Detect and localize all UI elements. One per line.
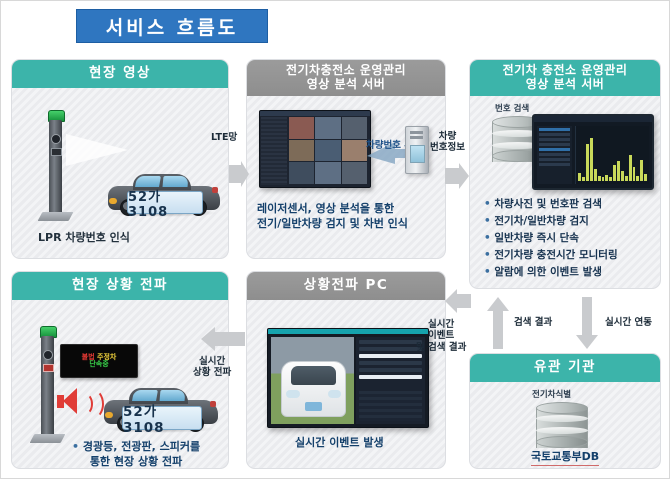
panel-site-video-body: 52가 3108 LPR 차량번호 인식 <box>12 88 228 259</box>
analytics-chart-screen <box>532 114 654 190</box>
panel-site-broadcast-caption: • 경광등, 전광판, 스피커를 통한 현장 상황 전파 <box>72 440 200 469</box>
ops-bullet-4: 전기차량 충전시간 모니터링 <box>484 247 618 264</box>
panel-site-broadcast-body: 불법 주정차 단속중 52가 3108 <box>12 300 228 469</box>
arrow-label-realtime-event: 실시간 이벤트 및 검색 결과 <box>416 319 466 353</box>
panel-situation-pc-caption: 실시간 이벤트 발생 <box>295 436 384 451</box>
panel-analysis-server: 전기차충전소 운영관리 영상 분석 서버 차량번호 추출 <box>246 59 446 259</box>
arrow-label-realtime-link: 실시간 연동 <box>605 317 652 328</box>
ops-server-bullet-list: 차량사진 및 번호판 검색 전기차/일반차량 검지 일반차량 즉시 단속 전기차… <box>484 196 618 281</box>
panel-situation-pc: 상황전파 PC 실시간 이벤트 발생 <box>246 271 446 469</box>
analysis-header-line2: 영상 분석 서버 <box>286 78 406 92</box>
panel-related-org-header: 유관 기관 <box>470 354 660 382</box>
analysis-caption-line2: 전기/일반차량 검지 및 차번 인식 <box>257 217 408 232</box>
panel-related-org-header-text: 유관 기관 <box>534 360 596 376</box>
number-search-db-label: 번호 검색 <box>495 104 529 114</box>
panel-site-video-caption: LPR 차량번호 인식 <box>38 231 130 246</box>
ops-bullet-1: 차량사진 및 번호판 검색 <box>484 196 618 213</box>
panel-related-org-body: 전기차식별 국토교통부DB <box>470 382 660 469</box>
analysis-caption-line1: 레이저센서, 영상 분석을 통한 <box>257 202 408 217</box>
speaker-icon <box>57 388 99 416</box>
broadcast-caption-line1: • 경광등, 전광판, 스피커를 <box>72 440 200 455</box>
broadcast-caption-line2: 통한 현장 상황 전파 <box>72 455 200 469</box>
arrow-label-search-result: 검색 결과 <box>514 317 552 328</box>
camera-beam-icon <box>66 134 128 166</box>
arrow-situation-pc-to-site <box>201 327 245 351</box>
panel-analysis-server-header: 전기차충전소 운영관리 영상 분석 서버 <box>247 60 445 96</box>
panel-site-video: 현장 영상 52가 3108 LPR 차량번호 인식 <box>11 59 229 259</box>
ops-bullet-3: 일반차량 즉시 단속 <box>484 230 618 247</box>
panel-situation-pc-header-text: 상황전파 PC <box>304 278 389 294</box>
lpr-camera-pole-icon <box>40 110 72 222</box>
led-display-sign: 불법 주정차 단속중 <box>60 344 138 378</box>
arrow-realtime-link-down <box>576 297 598 349</box>
panel-site-broadcast-header-text: 현장 상황 전파 <box>72 278 168 294</box>
arrow-analysis-to-ops <box>445 163 469 189</box>
ev-vehicle-photo <box>271 337 354 424</box>
analysis-header-line1: 전기차충전소 운영관리 <box>286 64 406 78</box>
service-flow-diagram: 서비스 흐름도 현장 영상 52가 3108 <box>0 0 670 479</box>
ops-bullet-5: 알람에 의한 이벤트 발생 <box>484 264 618 281</box>
page-title: 서비스 흐름도 <box>76 9 268 43</box>
event-form-fields <box>356 337 425 424</box>
license-plate-text: 52가 3108 <box>128 186 202 220</box>
panel-site-video-header-text: 현장 영상 <box>89 66 151 82</box>
arrow-label-lte: LTE망 <box>211 132 237 143</box>
ops-header-line2: 영상 분석 서버 <box>503 78 628 92</box>
event-monitor-screen <box>267 328 429 428</box>
arrow-search-result-up <box>487 297 509 349</box>
warning-light-pole-icon <box>32 326 64 444</box>
vms-monitor-screen <box>259 110 371 188</box>
ev-identify-db-label: 전기차식별 <box>532 390 571 400</box>
panel-site-video-header: 현장 영상 <box>12 60 228 88</box>
panel-analysis-server-caption: 레이저센서, 영상 분석을 통한 전기/일반차량 검지 및 차번 인식 <box>257 202 408 232</box>
server-tower-icon <box>405 126 429 174</box>
led-text-enforcing: 단속중 <box>89 361 108 368</box>
arrow-label-vehicle-number-info: 차량 번호정보 <box>430 131 465 154</box>
molit-database-icon <box>536 402 588 450</box>
panel-situation-pc-header: 상황전파 PC <box>247 272 445 300</box>
molit-db-caption: 국토교통부DB <box>531 450 599 466</box>
ops-header-line1: 전기차 충전소 운영관리 <box>503 64 628 78</box>
panel-related-org: 유관 기관 전기차식별 국토교통부DB <box>469 353 661 469</box>
arrow-label-realtime-broadcast: 실시간 상황 전파 <box>193 356 231 379</box>
license-plate-text-2: 52가 3108 <box>123 400 201 436</box>
panel-analysis-server-body: 차량번호 추출 레이저센서, 영상 분석을 통한 전기/일반차량 검지 및 차번… <box>247 96 445 259</box>
panel-ops-server-header: 전기차 충전소 운영관리 영상 분석 서버 <box>470 60 660 96</box>
panel-ops-server: 전기차 충전소 운영관리 영상 분석 서버 번호 검색 <box>469 59 661 289</box>
panel-site-broadcast-header: 현장 상황 전파 <box>12 272 228 300</box>
license-plate-site-broadcast: 52가 3108 <box>122 406 202 430</box>
panel-ops-server-body: 번호 검색 <box>470 96 660 289</box>
page-title-text: 서비스 흐름도 <box>106 13 239 40</box>
arrow-site-to-analysis <box>229 161 249 187</box>
arrow-ops-to-situation-pc <box>445 289 471 313</box>
license-plate-site-video: 52가 3108 <box>127 191 203 214</box>
ops-bullet-2: 전기차/일반차량 검지 <box>484 213 618 230</box>
